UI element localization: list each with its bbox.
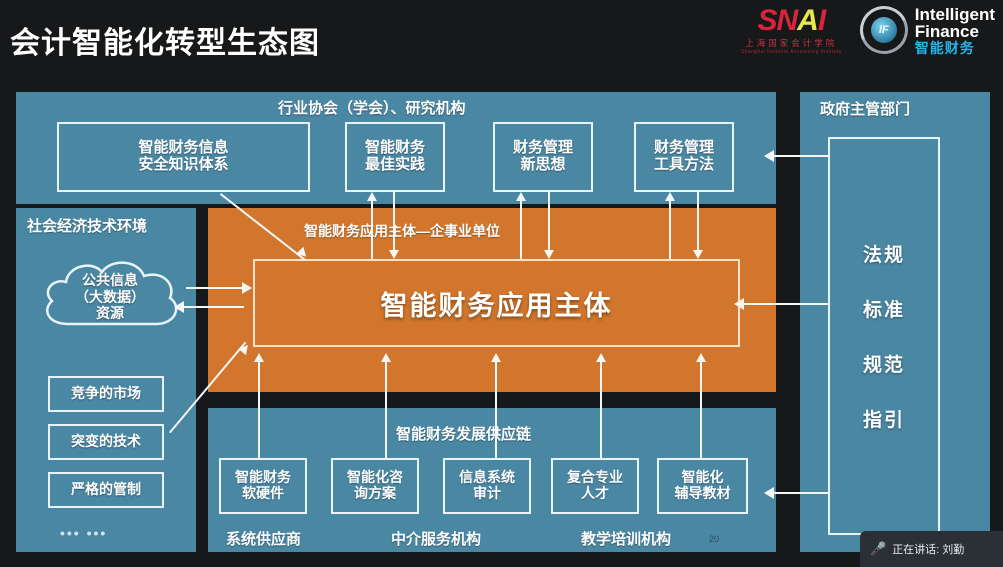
- top-box-1: 智能财务信息 安全知识体系: [57, 122, 310, 192]
- center-main-label: 智能财务应用主体: [381, 284, 613, 323]
- speaking-label: 正在讲话: 刘勤: [892, 541, 964, 557]
- arrow-supply-line-5: [700, 361, 702, 459]
- arrow-gov-bottom-head: [764, 487, 774, 499]
- arrow-cloud-in-head: [174, 301, 184, 313]
- arrow-gov-bottom-line: [774, 492, 830, 494]
- arrow-down-head-2: [544, 250, 554, 259]
- arrow-up-line-1: [371, 199, 373, 259]
- arrow-supply-head-4: [596, 353, 606, 362]
- arrow-cloud-out-head: [242, 282, 252, 294]
- gov-item-3: 规范: [863, 350, 905, 377]
- top-box-3: 财务管理 新思想: [493, 122, 593, 192]
- cloud-label: 公共信息 （大数据） 资源: [75, 272, 145, 322]
- if-ring-icon: IF: [860, 6, 908, 54]
- top-box-2: 智能财务 最佳实践: [345, 122, 445, 192]
- arrow-supply-line-2: [385, 361, 387, 459]
- snai-english-name: Shanghai National Accounting Institute: [741, 50, 842, 55]
- arrow-up-line-2: [520, 199, 522, 259]
- supply-box-4-label: 复合专业 人才: [567, 470, 623, 501]
- arrow-gov-center-line: [744, 303, 830, 305]
- arrow-up-line-3: [669, 199, 671, 259]
- env-box-2: 突变的技术: [48, 424, 164, 460]
- if-monogram: IF: [871, 17, 897, 43]
- supply-box-3-label: 信息系统 审计: [459, 470, 515, 501]
- supply-box-4: 复合专业 人才: [551, 458, 639, 514]
- arrow-supply-line-4: [600, 361, 602, 459]
- supply-caption-1: 系统供应商: [226, 528, 301, 549]
- arrow-supply-line-3: [495, 361, 497, 459]
- top-box-1-label: 智能财务信息 安全知识体系: [138, 140, 228, 174]
- arrow-supply-head-5: [696, 353, 706, 362]
- gov-item-4: 指引: [863, 405, 905, 432]
- arrow-down-head-1: [389, 250, 399, 259]
- snai-wordmark: SNAI: [757, 6, 825, 36]
- arrow-gov-top-head: [764, 150, 774, 162]
- arrow-supply-head-2: [381, 353, 391, 362]
- mic-icon: 🎤: [870, 541, 886, 557]
- if-chinese: 智能财务: [915, 41, 995, 55]
- government-panel-label: 政府主管部门: [820, 98, 910, 119]
- supply-box-3: 信息系统 审计: [443, 458, 531, 514]
- intelligent-finance-logo: IF Intelligent Finance 智能财务: [860, 6, 995, 55]
- supply-box-2: 智能化咨 询方案: [331, 458, 419, 514]
- supply-box-1: 智能财务 软硬件: [219, 458, 307, 514]
- env-box-1-label: 竞争的市场: [71, 386, 141, 402]
- gov-item-2: 标准: [863, 295, 905, 322]
- environment-ellipsis: ••• •••: [60, 525, 107, 541]
- logo-group: SNAI 上海国家会计学院 Shanghai National Accounti…: [741, 6, 995, 55]
- environment-panel-label: 社会经济技术环境: [27, 215, 147, 236]
- government-regulation-box: 法规 标准 规范 指引: [828, 137, 940, 535]
- supply-chain-label: 智能财务发展供应链: [396, 423, 531, 444]
- page-title: 会计智能化转型生态图: [10, 18, 320, 62]
- arrow-down-head-3: [693, 250, 703, 259]
- center-panel-label: 智能财务应用主体—企事业单位: [304, 221, 500, 241]
- page-number: 20: [709, 534, 719, 544]
- top-box-4: 财务管理 工具方法: [634, 122, 734, 192]
- arrow-up-head-2: [516, 192, 526, 201]
- arrow-up-head-3: [665, 192, 675, 201]
- arrow-down-line-2: [548, 192, 550, 252]
- arrow-cloud-in-line: [182, 306, 244, 308]
- supply-box-1-label: 智能财务 软硬件: [235, 470, 291, 501]
- arrow-supply-head-1: [254, 353, 264, 362]
- supply-box-5: 智能化 辅导教材: [657, 458, 748, 514]
- top-box-2-label: 智能财务 最佳实践: [365, 140, 425, 174]
- public-data-cloud: 公共信息 （大数据） 资源: [34, 252, 186, 342]
- arrow-gov-top-line: [774, 155, 830, 157]
- env-box-3-label: 严格的管制: [71, 482, 141, 498]
- supply-caption-2: 中介服务机构: [391, 528, 481, 549]
- top-box-3-label: 财务管理 新思想: [513, 140, 573, 174]
- env-box-1: 竞争的市场: [48, 376, 164, 412]
- arrow-down-line-1: [393, 192, 395, 252]
- arrow-gov-center-head: [734, 298, 744, 310]
- slide-canvas: 会计智能化转型生态图 SNAI 上海国家会计学院 Shanghai Nation…: [0, 0, 1003, 567]
- snai-letters-sn: SN: [757, 4, 797, 37]
- snai-chinese-name: 上海国家会计学院: [745, 39, 837, 48]
- snai-logo: SNAI 上海国家会计学院 Shanghai National Accounti…: [741, 6, 842, 55]
- gov-item-1: 法规: [863, 240, 905, 267]
- arrow-up-head-1: [367, 192, 377, 201]
- supply-caption-3: 教学培训机构: [581, 528, 671, 549]
- arrow-supply-head-3: [491, 353, 501, 362]
- top-banner-label: 行业协会（学会）、研究机构: [278, 97, 466, 118]
- env-box-2-label: 突变的技术: [71, 434, 141, 450]
- arrow-down-line-3: [697, 192, 699, 252]
- if-line1: Intelligent: [915, 6, 995, 23]
- top-box-4-label: 财务管理 工具方法: [654, 140, 714, 174]
- snai-letter-a: A: [797, 4, 818, 37]
- supply-box-5-label: 智能化 辅导教材: [675, 470, 731, 501]
- snai-letter-i: I: [818, 4, 825, 37]
- supply-box-2-label: 智能化咨 询方案: [347, 470, 403, 501]
- arrow-supply-line-1: [258, 361, 260, 459]
- env-box-3: 严格的管制: [48, 472, 164, 508]
- if-line2: Finance: [915, 23, 995, 40]
- speaking-indicator[interactable]: 🎤 正在讲话: 刘勤: [860, 531, 1003, 567]
- center-main-box: 智能财务应用主体: [253, 259, 740, 347]
- arrow-cloud-out-line: [186, 287, 244, 289]
